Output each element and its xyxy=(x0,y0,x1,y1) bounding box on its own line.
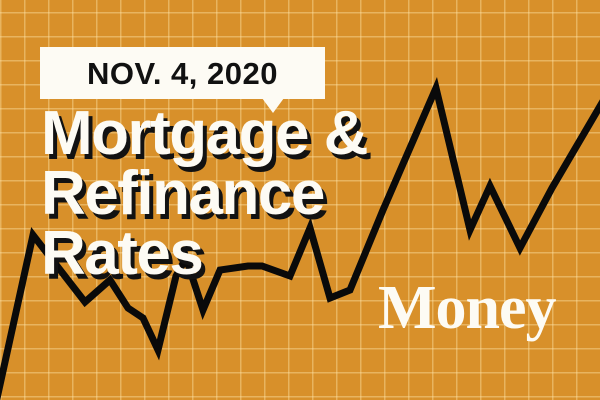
headline-line-2: Refinance xyxy=(41,164,367,224)
date-banner-label: NOV. 4, 2020 xyxy=(87,58,278,89)
headline-line-3: Rates xyxy=(41,224,367,284)
page-title: Mortgage & Refinance Rates xyxy=(41,104,367,284)
money-mortgage-rates-card: NOV. 4, 2020 Mortgage & Refinance Rates … xyxy=(0,0,600,400)
money-brand-logo: Money xyxy=(378,277,556,339)
headline-line-1: Mortgage & xyxy=(41,104,367,164)
date-banner: NOV. 4, 2020 xyxy=(40,47,325,99)
date-banner-tail-icon xyxy=(262,98,284,113)
